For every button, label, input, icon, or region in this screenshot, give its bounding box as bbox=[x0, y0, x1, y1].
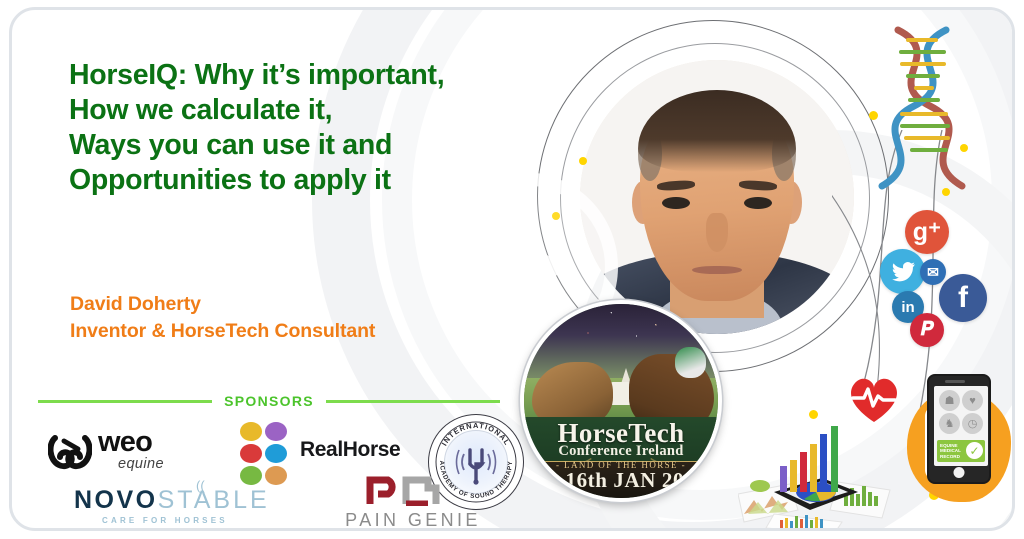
page-title: HorseIQ: Why it’s important, How we calc… bbox=[69, 58, 539, 198]
app-icon-heart[interactable]: ♥ bbox=[962, 390, 983, 411]
svg-text:INTERNATIONAL: INTERNATIONAL bbox=[440, 421, 512, 447]
slide-root: HorseIQ: Why it’s important, How we calc… bbox=[0, 0, 1024, 539]
sponsor-logo-grid: weo equine RealHorse bbox=[32, 414, 512, 531]
title-line-2: How we calculate it, bbox=[69, 93, 539, 128]
sponsors-header: SPONSORS bbox=[38, 393, 500, 409]
speaker-info: David Doherty Inventor & HorseTech Consu… bbox=[70, 291, 375, 345]
google-plus-icon[interactable]: g⁺ bbox=[905, 210, 949, 254]
data-analytics-graphic bbox=[738, 422, 898, 531]
sound-therapy-ring-text-top: INTERNATIONAL bbox=[440, 421, 512, 447]
twitter-icon[interactable] bbox=[880, 249, 925, 294]
emr-label: EQUINE MEDICAL RECORD bbox=[937, 443, 965, 460]
play-triangle-icon bbox=[503, 229, 569, 307]
email-icon[interactable]: ✉ bbox=[920, 259, 946, 285]
dna-helix-icon bbox=[868, 26, 998, 206]
weo-wordmark: weo bbox=[98, 427, 152, 457]
app-icon-grid: ☗ ♥ ♞ ◷ bbox=[939, 390, 983, 434]
phone-speaker bbox=[945, 380, 965, 383]
accent-dot bbox=[869, 111, 878, 120]
title-line-1: HorseIQ: Why it’s important, bbox=[69, 58, 539, 93]
pain-genie-monogram-icon bbox=[366, 476, 442, 506]
weo-mark-icon bbox=[48, 432, 92, 470]
novostable-light-word: STABLE bbox=[158, 486, 270, 514]
pinterest-icon[interactable]: 𝑷 bbox=[910, 313, 944, 347]
speaker-photo bbox=[580, 60, 854, 334]
emr-label-line-3: RECORD bbox=[940, 454, 965, 460]
pain-genie-wordmark: PAIN GENIE bbox=[328, 510, 498, 531]
weo-tagline: equine bbox=[118, 456, 164, 472]
sponsors-label: SPONSORS bbox=[224, 393, 314, 409]
sponsors-rule-right bbox=[326, 400, 500, 403]
sponsors-rule-left bbox=[38, 400, 212, 403]
emr-banner: EQUINE MEDICAL RECORD ✓ bbox=[937, 440, 985, 462]
heart-pulse-icon bbox=[845, 372, 903, 424]
phone-body: ☗ ♥ ♞ ◷ EQUINE MEDICAL RECORD ✓ bbox=[927, 374, 991, 484]
app-icon-horse[interactable]: ♞ bbox=[939, 413, 960, 434]
novostable-tagline: CARE FOR HORSES bbox=[102, 516, 228, 525]
twitter-bird-glyph bbox=[890, 259, 916, 285]
badge-subtitle: Conference Ireland bbox=[524, 443, 718, 460]
badge-jockey bbox=[675, 347, 706, 378]
accent-dot bbox=[579, 157, 587, 165]
equine-medical-record-phone: ☗ ♥ ♞ ◷ EQUINE MEDICAL RECORD ✓ bbox=[905, 368, 1015, 508]
horsetech-conference-badge[interactable]: HorseTech Conference Ireland - LAND OF T… bbox=[520, 300, 722, 502]
speaker-photo-art bbox=[580, 60, 854, 334]
badge-dates: 15-16th JAN 2026 bbox=[524, 468, 718, 493]
facebook-icon[interactable]: f bbox=[939, 274, 987, 322]
phone-home-button[interactable] bbox=[954, 467, 965, 478]
sponsor-logo-novostable[interactable]: NOVOSTABLE (( CARE FOR HORSES bbox=[74, 486, 294, 531]
accent-dot bbox=[809, 410, 818, 419]
realhorse-wordmark: RealHorse bbox=[300, 438, 400, 462]
slide-card: HorseIQ: Why it’s important, How we calc… bbox=[9, 7, 1015, 531]
sponsor-logo-weo-equine[interactable]: weo equine bbox=[42, 426, 212, 482]
speaker-role: Inventor & HorseTech Consultant bbox=[70, 318, 375, 345]
phone-screen: ☗ ♥ ♞ ◷ EQUINE MEDICAL RECORD ✓ bbox=[934, 386, 988, 466]
sponsor-logo-pain-genie[interactable]: PAIN GENIE bbox=[328, 476, 498, 531]
app-icon-shield[interactable]: ☗ bbox=[939, 390, 960, 411]
speaker-name: David Doherty bbox=[70, 291, 375, 318]
title-line-3: Ways you can use it and bbox=[69, 128, 539, 163]
app-icon-clock[interactable]: ◷ bbox=[962, 413, 983, 434]
novostable-wifi-icon: (( bbox=[196, 478, 205, 493]
emr-check-icon: ✓ bbox=[966, 442, 983, 459]
realhorse-dots-icon bbox=[240, 422, 288, 486]
novostable-wordmark: NOVOSTABLE bbox=[74, 486, 270, 515]
novostable-dark-word: NOVO bbox=[74, 486, 158, 514]
